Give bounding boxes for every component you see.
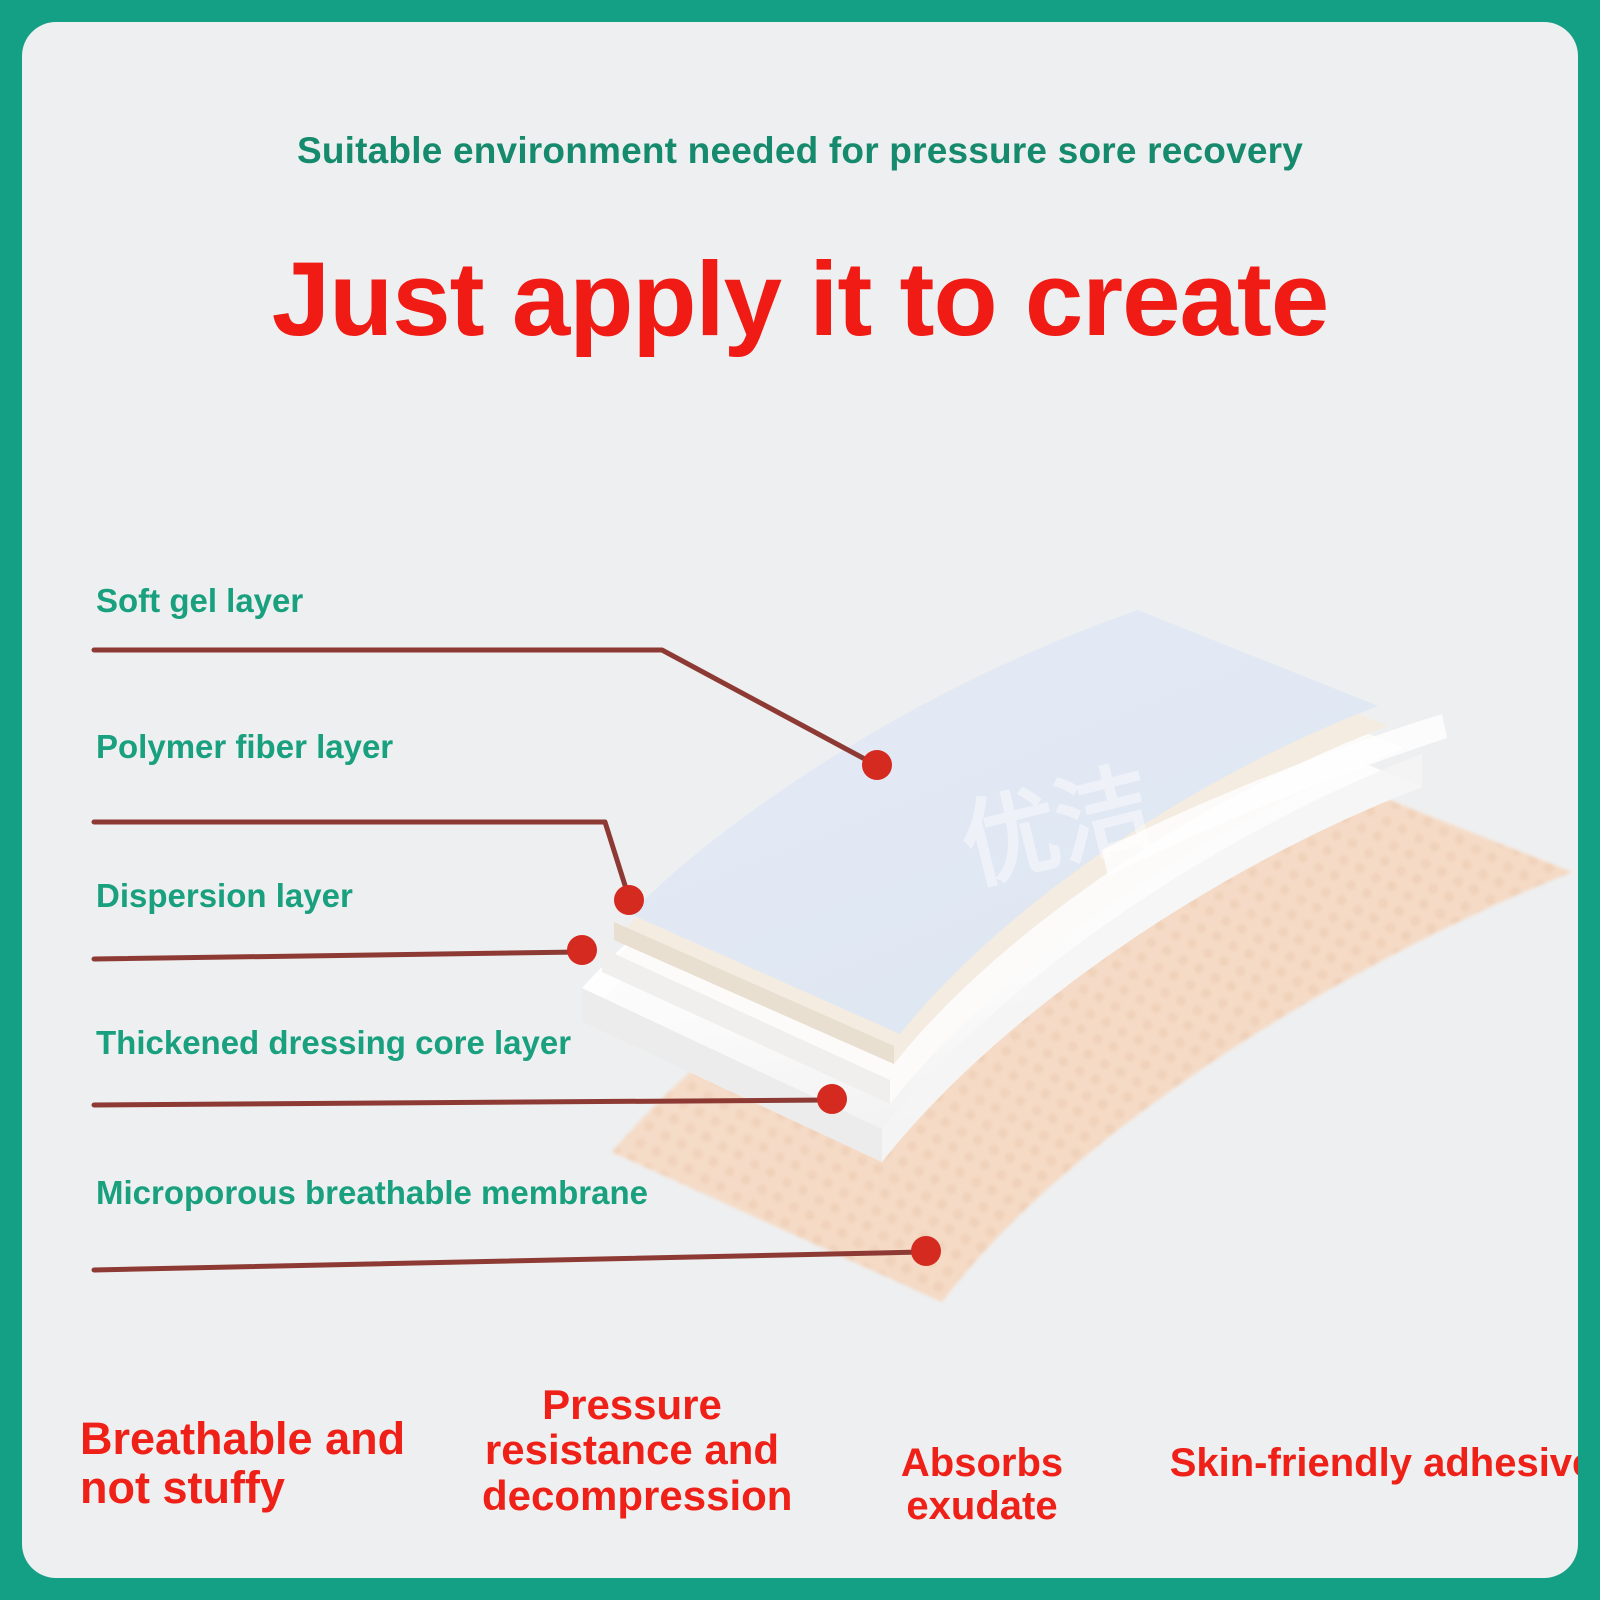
page-subtitle: Suitable environment needed for pressure…: [22, 130, 1578, 172]
poster-panel: Suitable environment needed for pressure…: [22, 22, 1578, 1578]
page-title: Just apply it to create: [22, 240, 1578, 360]
feature-skin-friendly-adhesive: Skin-friendly adhesive: [1152, 1442, 1578, 1485]
leader-line-dispersion: [94, 952, 580, 959]
callout-label-microporous-breathable-membrane: Microporous breathable membrane: [96, 1174, 648, 1212]
product-illustration: 优洁: [542, 542, 1578, 1342]
callout-label-thickened-dressing-core-layer: Thickened dressing core layer: [96, 1024, 571, 1062]
callout-label-soft-gel-layer: Soft gel layer: [96, 582, 303, 620]
feature-pressure-resistance-and-decompression: Pressure resistance and decompression: [482, 1382, 782, 1518]
callout-label-dispersion-layer: Dispersion layer: [96, 877, 353, 915]
callout-label-polymer-fiber-layer: Polymer fiber layer: [96, 728, 393, 766]
feature-absorbs-exudate: Absorbs exudate: [822, 1442, 1142, 1528]
poster-frame: Suitable environment needed for pressure…: [0, 0, 1600, 1600]
feature-breathable-and-not-stuffy: Breathable and not stuffy: [80, 1415, 460, 1512]
